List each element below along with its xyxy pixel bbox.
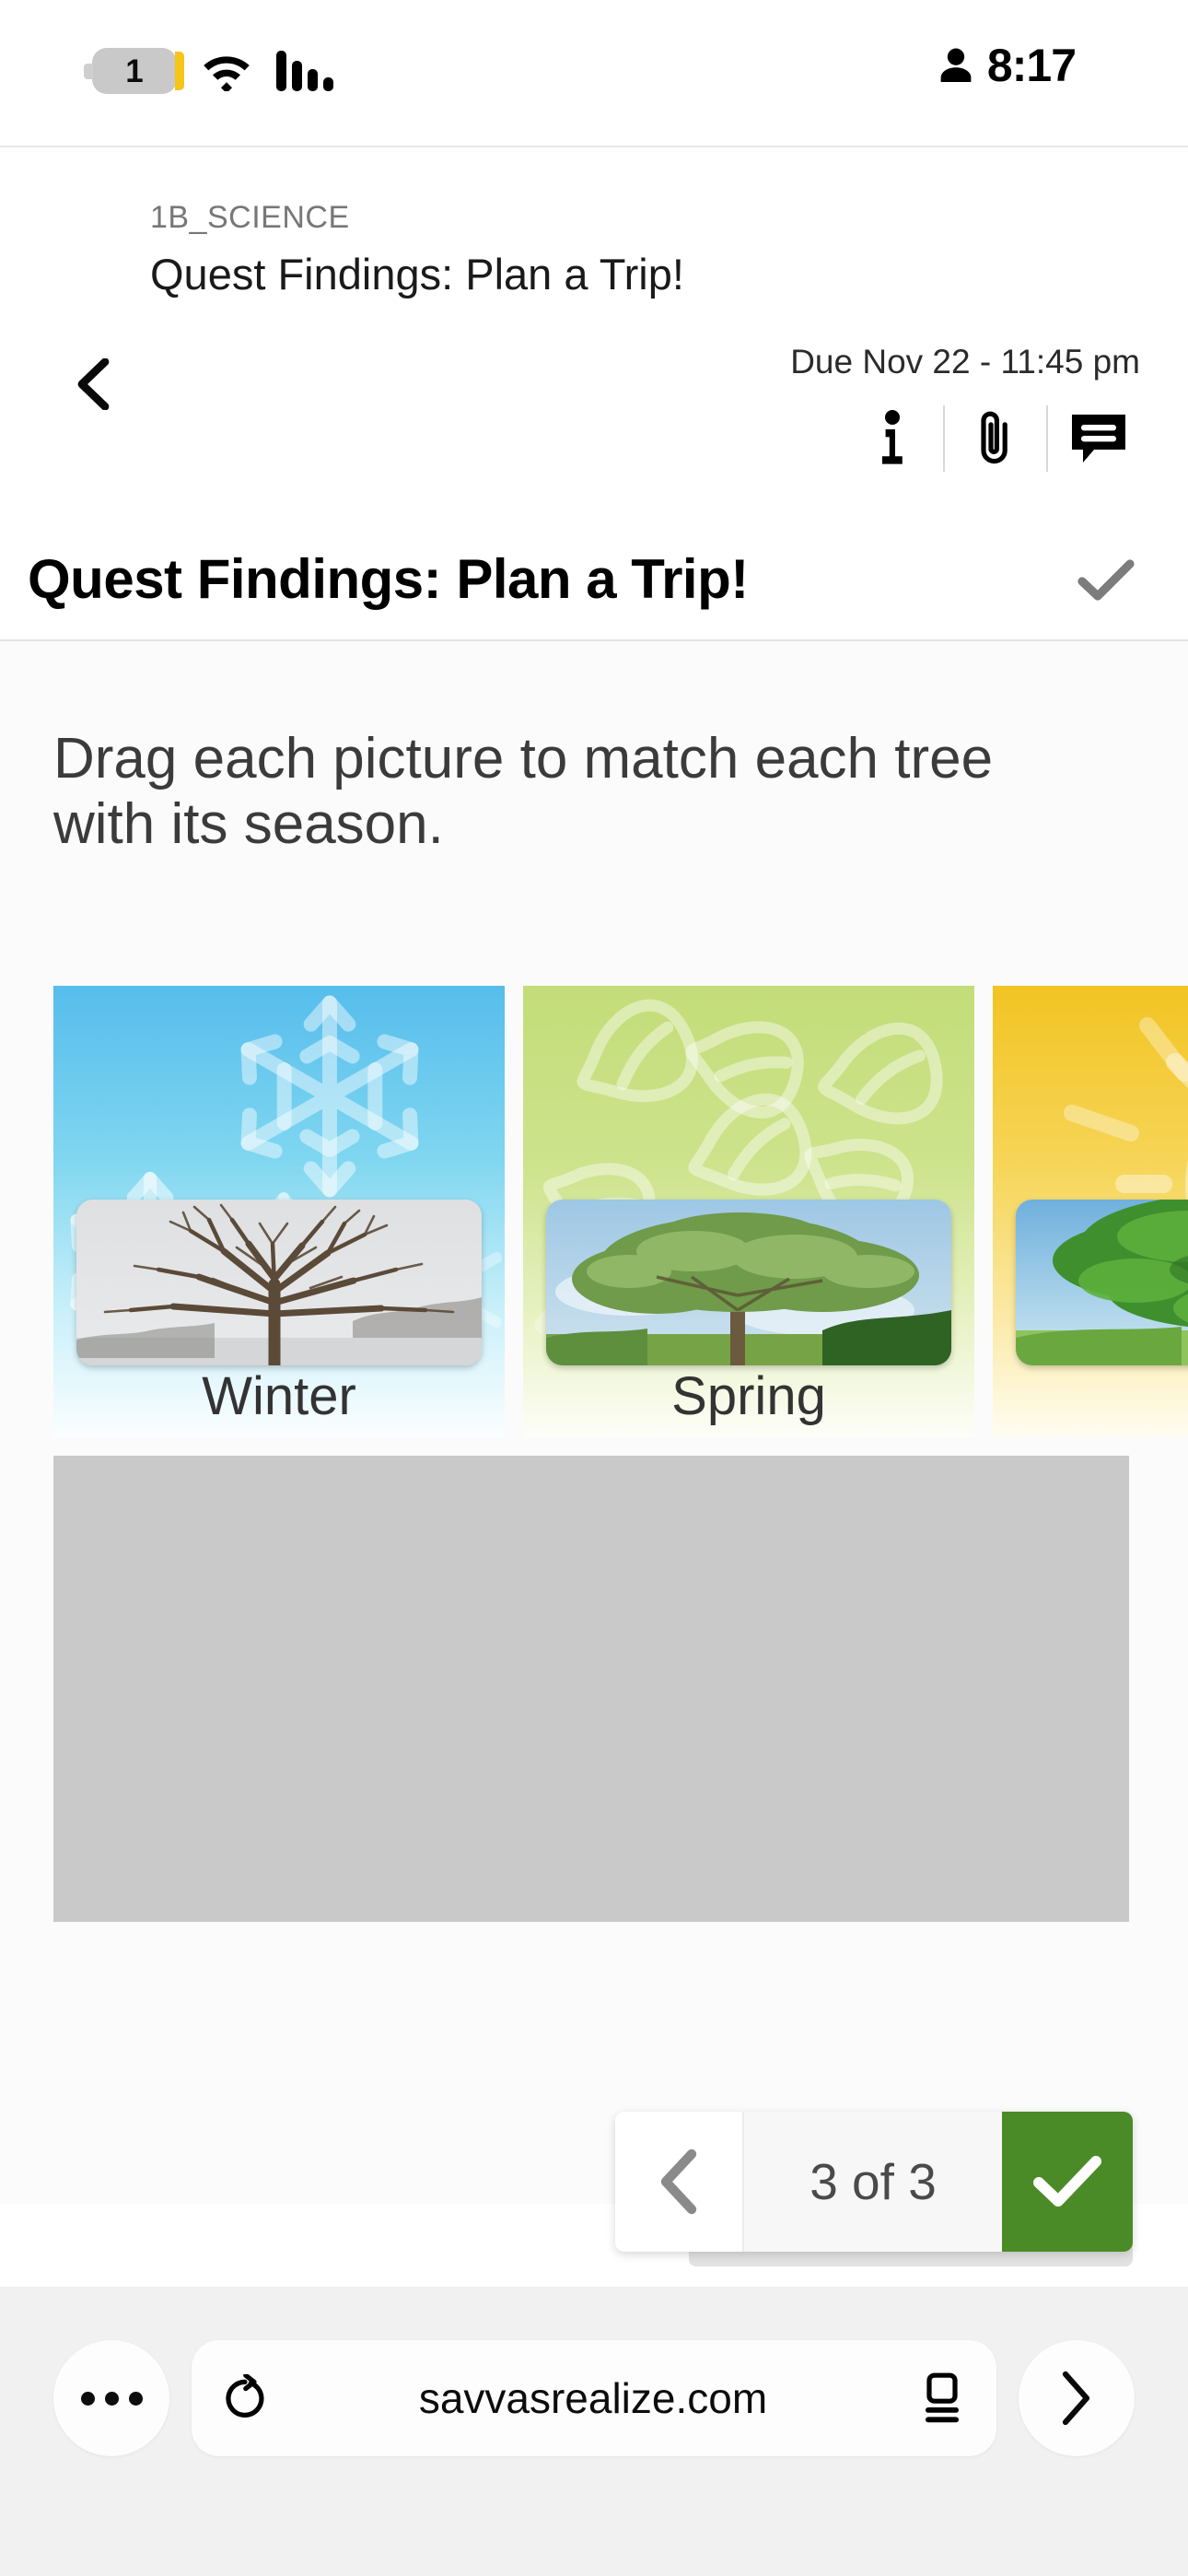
submit-button[interactable] bbox=[1002, 2112, 1133, 2252]
status-bar: 1 8:17 bbox=[0, 0, 1188, 147]
instruction-text: Drag each picture to match each tree wit… bbox=[53, 726, 1085, 858]
activity-nav-widget: 3 of 3 bbox=[615, 2112, 1133, 2252]
status-bar-left: 1 bbox=[92, 48, 333, 94]
blossoming-tree-image bbox=[546, 1200, 951, 1365]
chevron-right-icon bbox=[1060, 2370, 1093, 2427]
info-icon bbox=[879, 410, 905, 467]
forward-button[interactable] bbox=[1019, 2340, 1135, 2456]
status-bar-time: 8:17 bbox=[987, 42, 1076, 88]
winter-tree-photo[interactable] bbox=[76, 1200, 482, 1365]
back-chevron-icon[interactable] bbox=[72, 358, 114, 410]
reload-icon[interactable] bbox=[225, 2374, 265, 2422]
header-action-row bbox=[842, 396, 1149, 481]
status-bar-right: 8:17 bbox=[939, 42, 1076, 88]
breadcrumb: 1B_SCIENCE bbox=[150, 200, 350, 236]
assignment-title[interactable]: Quest Findings: Plan a Trip! bbox=[150, 249, 684, 299]
wifi-icon bbox=[201, 51, 252, 91]
drop-area[interactable] bbox=[53, 1456, 1129, 1922]
paperclip-icon bbox=[976, 407, 1015, 470]
more-menu-button[interactable] bbox=[53, 2340, 169, 2456]
season-label-winter: Winter bbox=[53, 1365, 505, 1427]
season-card-winter[interactable]: Winter bbox=[53, 986, 505, 1437]
info-button[interactable] bbox=[842, 396, 943, 481]
battery-icon: 1 bbox=[92, 48, 177, 94]
season-card-summer[interactable]: Su bbox=[993, 986, 1188, 1437]
attachment-button[interactable] bbox=[945, 396, 1046, 481]
summer-tree-photo[interactable] bbox=[1016, 1200, 1188, 1365]
season-card-list: Winter bbox=[53, 986, 1188, 1437]
spring-tree-photo[interactable] bbox=[546, 1200, 951, 1365]
season-label-summer: Su bbox=[993, 1365, 1188, 1427]
browser-toolbar-row: savvasrealize.com bbox=[0, 2329, 1188, 2467]
comment-icon bbox=[1068, 411, 1129, 466]
page-title: Quest Findings: Plan a Trip! bbox=[28, 547, 749, 611]
person-icon bbox=[939, 45, 973, 86]
comment-button[interactable] bbox=[1048, 396, 1149, 481]
previous-button[interactable] bbox=[615, 2112, 744, 2252]
url-text[interactable]: savvasrealize.com bbox=[274, 2373, 912, 2423]
activity-content: Drag each picture to match each tree wit… bbox=[0, 639, 1188, 2204]
page-counter: 3 of 3 bbox=[744, 2112, 1002, 2252]
phone-screen: 1 8:17 1B_SCIENCE Quest Findings: Plan bbox=[0, 0, 1188, 2576]
season-card-spring[interactable]: Spring bbox=[523, 986, 974, 1437]
ellipsis-icon bbox=[81, 2392, 143, 2406]
checkmark-icon bbox=[1077, 558, 1135, 603]
leafy-green-tree-image bbox=[1016, 1200, 1188, 1365]
browser-toolbar: savvasrealize.com bbox=[0, 2287, 1188, 2576]
address-bar[interactable]: savvasrealize.com bbox=[192, 2340, 996, 2456]
page-title-bar: Quest Findings: Plan a Trip! bbox=[0, 518, 1188, 639]
season-label-spring: Spring bbox=[523, 1365, 974, 1427]
page-settings-icon[interactable] bbox=[921, 2372, 963, 2424]
bare-tree-in-snow-image bbox=[76, 1200, 482, 1365]
checkmark-icon bbox=[1033, 2155, 1101, 2208]
battery-level-label: 1 bbox=[125, 55, 143, 88]
due-date-label: Due Nov 22 - 11:45 pm bbox=[790, 343, 1140, 381]
chevron-left-icon bbox=[655, 2149, 703, 2215]
signal-bars-icon bbox=[276, 51, 333, 91]
